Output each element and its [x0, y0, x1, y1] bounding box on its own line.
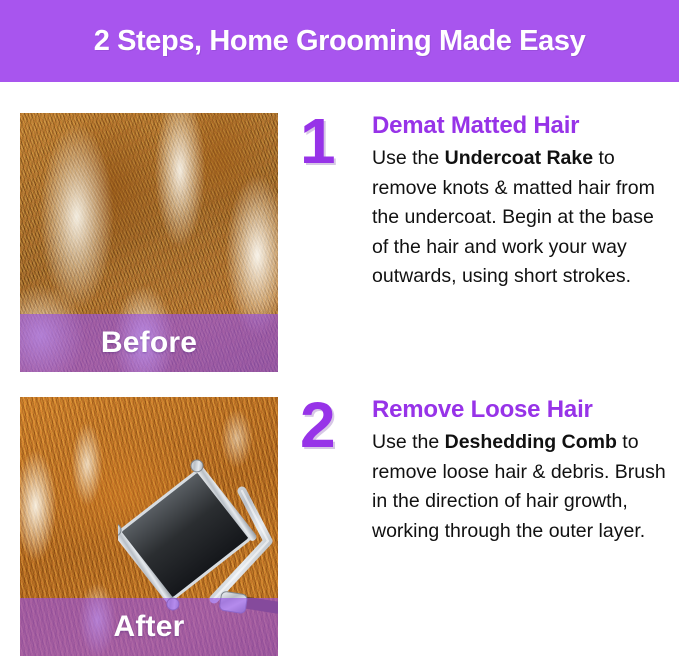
before-label: Before — [101, 326, 197, 360]
step-1-text-lead: Use the — [372, 147, 445, 169]
step-2-number: 2 — [300, 393, 362, 457]
steps-container: Before 1 Demat Matted Hair Use the Under… — [0, 82, 679, 655]
step-1-photo-card: Before — [20, 113, 278, 372]
step-1-text-column: 1 Demat Matted Hair Use the Undercoat Ra… — [300, 113, 672, 292]
step-2-photo-label-band: After — [20, 598, 278, 656]
step-2-text-lead: Use the — [372, 431, 445, 453]
step-2-description: Use the Deshedding Comb to remove loose … — [372, 428, 672, 547]
step-1-product-name: Undercoat Rake — [445, 147, 593, 169]
step-2-product-name: Deshedding Comb — [445, 431, 617, 453]
after-label: After — [113, 610, 184, 644]
step-1-description: Use the Undercoat Rake to remove knots &… — [372, 144, 672, 292]
step-2-text-column: 2 Remove Loose Hair Use the Deshedding C… — [300, 397, 672, 546]
step-1-title: Demat Matted Hair — [372, 113, 672, 140]
step-2-body: Remove Loose Hair Use the Deshedding Com… — [372, 397, 672, 546]
step-1-photo-label-band: Before — [20, 314, 278, 372]
step-2-title: Remove Loose Hair — [372, 397, 672, 424]
step-2-photo-card: After — [20, 397, 278, 656]
step-1-body: Demat Matted Hair Use the Undercoat Rake… — [372, 113, 672, 292]
page-title: 2 Steps, Home Grooming Made Easy — [94, 25, 586, 58]
step-1-number: 1 — [300, 109, 362, 173]
header-banner: 2 Steps, Home Grooming Made Easy — [0, 0, 679, 82]
